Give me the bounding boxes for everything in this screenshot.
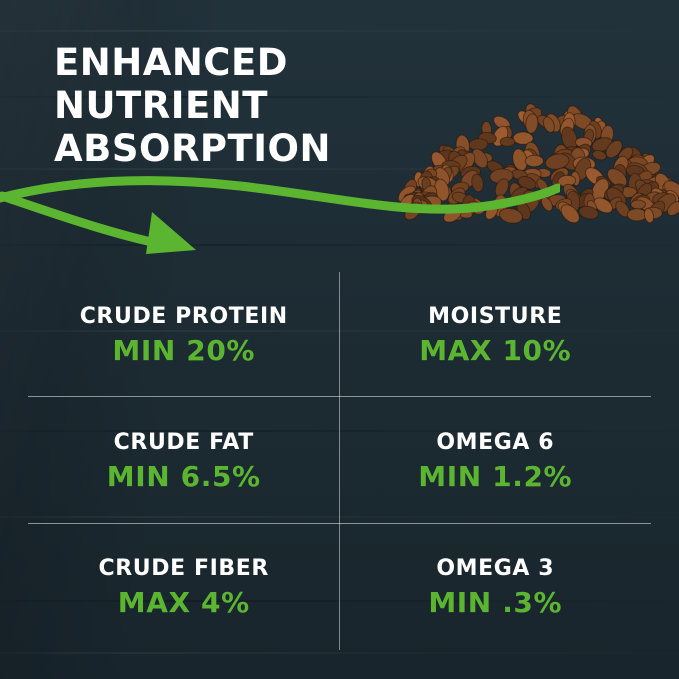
nutrient-label: OMEGA 3 xyxy=(436,557,554,581)
headline-line-3: ABSORPTION xyxy=(54,128,474,171)
table-cell-moisture: MOISTURE MAX 10% xyxy=(340,272,652,398)
wood-grain-line xyxy=(0,30,679,32)
headline-line-2: NUTRIENT xyxy=(54,85,474,128)
guaranteed-analysis-table: CRUDE PROTEIN MIN 20% MOISTURE MAX 10% C… xyxy=(28,272,651,650)
nutrient-label: CRUDE PROTEIN xyxy=(80,305,288,329)
nutrient-value: MIN .3% xyxy=(428,588,562,617)
wood-grain-line xyxy=(0,652,679,654)
table-cell-omega-3: OMEGA 3 MIN .3% xyxy=(340,524,652,650)
table-cell-crude-fat: CRUDE FAT MIN 6.5% xyxy=(28,398,340,524)
page-title: ENHANCED NUTRIENT ABSORPTION xyxy=(54,42,474,171)
table-cell-omega-6: OMEGA 6 MIN 1.2% xyxy=(340,398,652,524)
table-cell-crude-fiber: CRUDE FIBER MAX 4% xyxy=(28,524,340,650)
nutrient-value: MAX 4% xyxy=(118,588,250,617)
nutrient-label: OMEGA 6 xyxy=(436,431,554,455)
table-cell-crude-protein: CRUDE PROTEIN MIN 20% xyxy=(28,272,340,398)
headline-line-1: ENHANCED xyxy=(54,42,474,85)
nutrient-label: CRUDE FIBER xyxy=(99,557,269,581)
nutrient-value: MIN 1.2% xyxy=(418,462,572,491)
nutrient-label: CRUDE FAT xyxy=(114,431,254,455)
nutrient-value: MIN 6.5% xyxy=(107,462,261,491)
nutrient-value: MAX 10% xyxy=(419,336,571,365)
product-infographic: ENHANCED NUTRIENT ABSORPTION CRUDE PROTE… xyxy=(0,0,679,679)
nutrient-label: MOISTURE xyxy=(428,305,562,329)
nutrient-value: MIN 20% xyxy=(112,336,255,365)
